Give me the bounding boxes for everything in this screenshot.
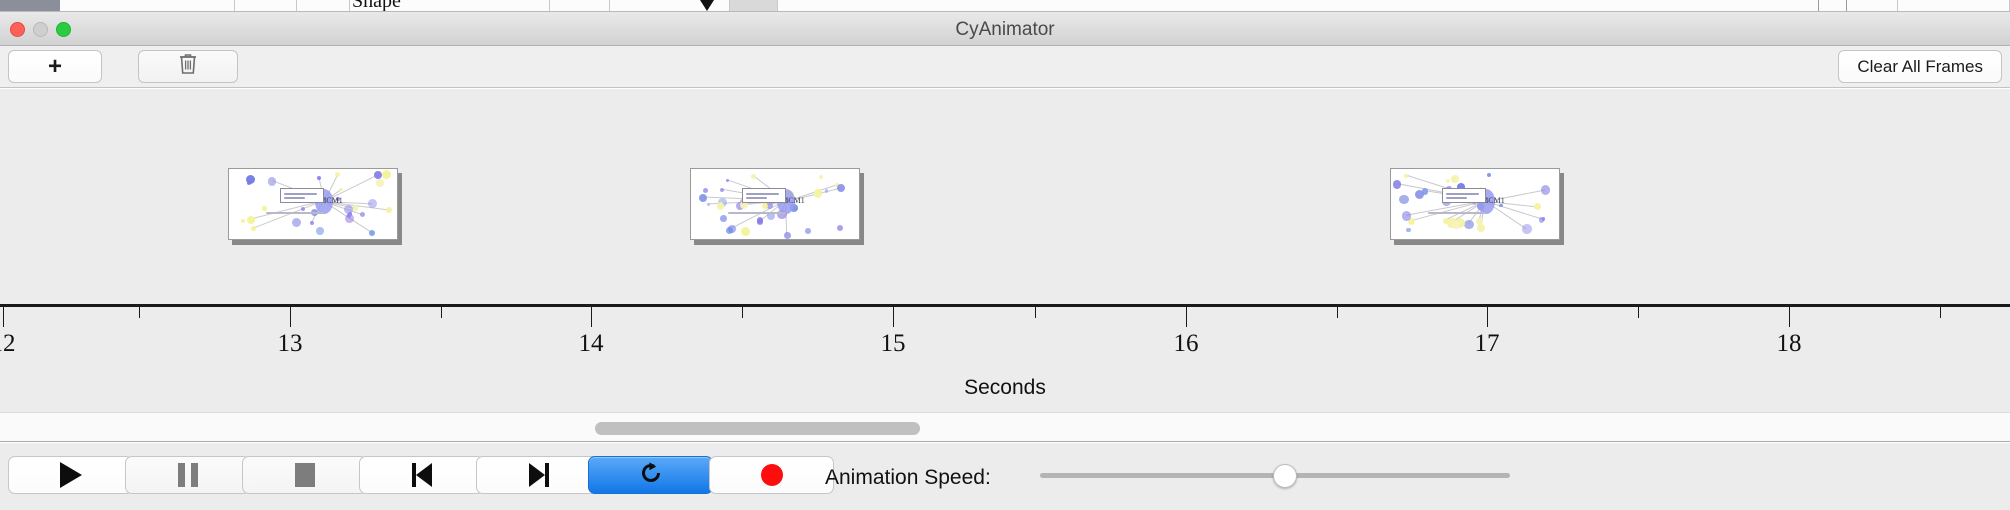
axis-tick — [1789, 307, 1790, 327]
network-node — [703, 188, 708, 193]
record-button[interactable] — [709, 456, 834, 494]
pause-button[interactable] — [125, 456, 250, 494]
network-node — [1487, 173, 1491, 177]
network-node — [819, 175, 823, 179]
clear-all-frames-button[interactable]: Clear All Frames — [1838, 50, 2002, 83]
axis-tick-label: 15 — [881, 330, 906, 358]
network-node — [353, 205, 358, 210]
timeline-scrollbar-thumb[interactable] — [595, 422, 920, 435]
frame-thumbnails: MCM1MCM1MCM1 — [0, 89, 2010, 304]
timeline-scrollbar[interactable] — [0, 412, 2010, 442]
network-node — [1451, 175, 1459, 183]
network-node — [825, 189, 828, 192]
network-annotation-box — [280, 188, 324, 203]
axis-tick — [1638, 307, 1639, 318]
network-node — [699, 194, 708, 203]
plus-icon: + — [48, 55, 62, 79]
network-node — [386, 207, 392, 213]
background-caret-icon — [700, 0, 714, 11]
network-node — [310, 221, 314, 225]
network-node — [1464, 220, 1474, 230]
skip-start-icon — [412, 463, 432, 487]
axis-tick — [1487, 307, 1488, 327]
trash-icon — [177, 52, 199, 81]
frame-network-preview: MCM1 — [228, 168, 398, 240]
network-node — [837, 184, 845, 192]
play-button[interactable] — [8, 456, 133, 494]
network-node — [720, 215, 727, 222]
network-annotation-box — [742, 188, 786, 203]
network-node — [784, 232, 791, 239]
loop-icon — [637, 459, 665, 492]
network-node — [1404, 174, 1408, 178]
network-node — [1443, 218, 1449, 224]
network-node — [1402, 211, 1411, 220]
skip-end-icon — [529, 463, 549, 487]
transport-bar: Animation Speed: — [0, 443, 2010, 510]
window-title: CyAnimator — [0, 19, 2010, 41]
network-node — [316, 227, 324, 235]
play-icon — [60, 462, 82, 488]
network-node — [247, 216, 255, 224]
network-node — [1452, 221, 1460, 229]
network-node — [345, 214, 354, 223]
network-caption-text — [728, 212, 786, 214]
record-icon — [761, 464, 783, 486]
network-annotation-box — [1442, 188, 1486, 203]
network-node — [837, 225, 843, 231]
axis-tick-label: 14 — [579, 330, 604, 358]
skip-forward-button[interactable] — [476, 456, 601, 494]
axis-tick — [893, 307, 894, 327]
network-node — [368, 199, 377, 208]
axis-tick — [1186, 307, 1187, 327]
cyanimator-window: Shape CyAnimator + — [0, 0, 2010, 510]
axis-tick — [591, 307, 592, 327]
axis-tick-label: 13 — [278, 330, 303, 358]
axis-tick — [3, 307, 4, 327]
pause-icon — [178, 463, 198, 487]
network-node — [1477, 224, 1486, 233]
network-node — [268, 177, 276, 185]
network-node — [251, 226, 256, 231]
network-node — [317, 176, 321, 180]
axis-tick-label: 16 — [1174, 330, 1199, 358]
frame-thumbnail[interactable]: MCM1 — [1390, 168, 1560, 240]
network-node — [1534, 203, 1541, 210]
timeline-panel[interactable]: MCM1MCM1MCM1 12131415161718 Seconds — [0, 89, 2010, 412]
frame-thumbnail[interactable]: MCM1 — [690, 168, 860, 240]
axis-tick — [1337, 307, 1338, 318]
network-node — [726, 179, 729, 182]
axis-tick — [441, 307, 442, 318]
network-node — [246, 175, 255, 184]
network-node — [1539, 217, 1545, 223]
network-node — [292, 218, 301, 227]
stop-button[interactable] — [242, 456, 367, 494]
network-node — [1399, 195, 1409, 205]
axis-tick-label: 12 — [0, 330, 16, 358]
network-node — [1446, 179, 1451, 184]
network-node — [1541, 185, 1551, 195]
animation-speed-label: Animation Speed: — [825, 466, 991, 490]
network-node — [717, 202, 724, 209]
background-window-label: Shape — [352, 0, 401, 12]
network-node — [1422, 188, 1428, 194]
toolbar: + Clear All Frames — [0, 46, 2010, 88]
network-node — [805, 228, 811, 234]
network-node — [1406, 228, 1410, 232]
axis-line — [0, 304, 2010, 307]
title-bar[interactable]: CyAnimator — [0, 12, 2010, 46]
stop-icon — [295, 463, 315, 487]
axis-tick — [139, 307, 140, 318]
animation-speed-slider-thumb[interactable] — [1273, 464, 1297, 488]
axis-title: Seconds — [0, 376, 2010, 400]
network-node — [728, 225, 736, 233]
network-node — [1522, 224, 1531, 233]
time-axis: 12131415161718 Seconds — [0, 304, 2010, 412]
loop-button[interactable] — [588, 456, 713, 494]
network-node — [757, 219, 762, 224]
background-window-titlebar — [0, 0, 60, 12]
network-node — [301, 207, 306, 212]
network-node — [369, 230, 375, 236]
network-node — [382, 170, 391, 179]
network-node — [1393, 180, 1401, 188]
network-node — [262, 206, 266, 210]
network-node — [360, 212, 365, 217]
axis-tick-label: 18 — [1777, 330, 1802, 358]
network-node — [241, 219, 245, 223]
axis-tick — [290, 307, 291, 327]
network-node — [335, 172, 340, 177]
network-node — [741, 227, 750, 236]
add-frame-button[interactable]: + — [8, 50, 102, 83]
network-node — [720, 188, 724, 192]
network-caption-text — [266, 212, 324, 214]
frame-network-preview: MCM1 — [690, 168, 860, 240]
background-window-strip: Shape — [0, 0, 2010, 12]
frame-thumbnail[interactable]: MCM1 — [228, 168, 398, 240]
network-node — [376, 179, 384, 187]
network-node — [707, 203, 710, 206]
frame-network-preview: MCM1 — [1390, 168, 1560, 240]
axis-tick — [742, 307, 743, 318]
delete-frame-button[interactable] — [138, 50, 238, 83]
axis-tick — [1940, 307, 1941, 318]
clear-all-frames-label: Clear All Frames — [1857, 57, 1983, 77]
axis-tick — [1035, 307, 1036, 318]
axis-tick-label: 17 — [1475, 330, 1500, 358]
network-node — [374, 171, 382, 179]
network-caption-text — [1428, 212, 1486, 214]
skip-back-button[interactable] — [359, 456, 484, 494]
